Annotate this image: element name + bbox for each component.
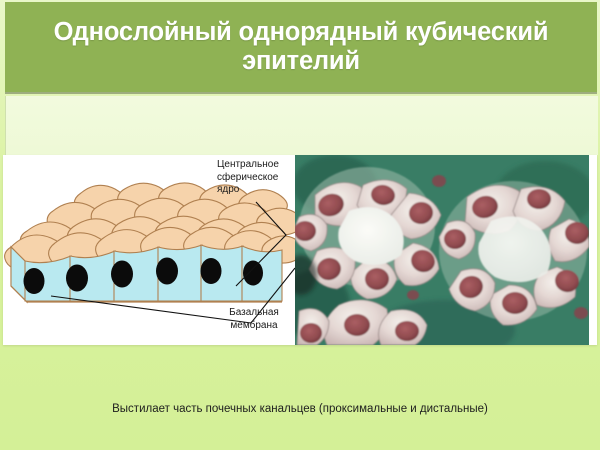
label-nucleus-line2: сферическое [217,172,279,185]
slide-title-band: Однослойный однорядный кубический эпител… [5,2,597,94]
page-title: Однослойный однорядный кубический эпител… [5,18,597,75]
label-nucleus-line3: ядро [217,184,279,197]
label-nucleus-line1: Центральное [217,159,279,172]
label-central-spherical-nucleus: Центральное сферическое ядро [217,159,279,197]
content-panel: Центральное сферическое ядро Базальная м… [3,155,597,345]
title-underlay-strip [5,96,598,155]
label-basement-line1: Базальная [209,307,299,320]
slide-root: Однослойный однорядный кубический эпител… [0,0,600,450]
histology-micrograph [295,155,589,345]
label-basement-line2: мембрана [209,320,299,333]
label-basement-membrane: Базальная мембрана [209,307,299,332]
slide-caption: Выстилает часть почечных канальцев (прок… [0,403,600,415]
